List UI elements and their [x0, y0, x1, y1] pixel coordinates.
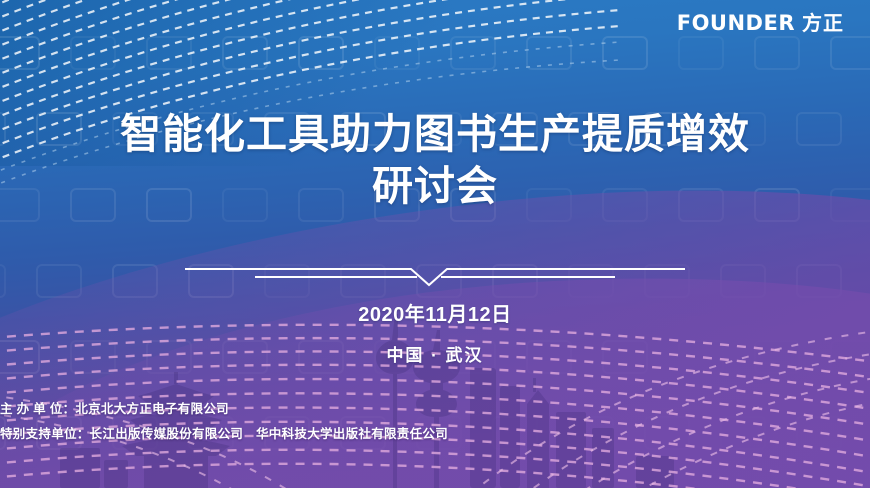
organizers-block: 主 办 单 位：北京北大方正电子有限公司 特别支持单位：长江出版传媒股份有限公司…: [0, 397, 870, 446]
event-location: 中国 · 武汉: [386, 341, 483, 366]
event-date: 2020年11月12日: [358, 298, 511, 327]
title-line-2: 研讨会: [120, 160, 750, 212]
page-title: 智能化工具助力图书生产提质增效 研讨会: [120, 108, 750, 213]
divider-ornament: [185, 258, 685, 292]
founder-logo-chinese: 方正: [802, 14, 844, 34]
founder-logo[interactable]: FOUNDER 方正: [677, 13, 844, 34]
title-line-1: 智能化工具助力图书生产提质增效: [120, 111, 750, 157]
founder-logo-latin: FOUNDER: [677, 13, 795, 34]
organizer-line-host: 主 办 单 位：北京北大方正电子有限公司: [0, 397, 870, 421]
organizer-line-support: 特别支持单位：长江出版传媒股份有限公司 华中科技大学出版社有限责任公司: [0, 422, 870, 446]
conference-poster: FOUNDER 方正 智能化工具助力图书生产提质增效 研讨会 2020年11月1…: [0, 0, 870, 488]
